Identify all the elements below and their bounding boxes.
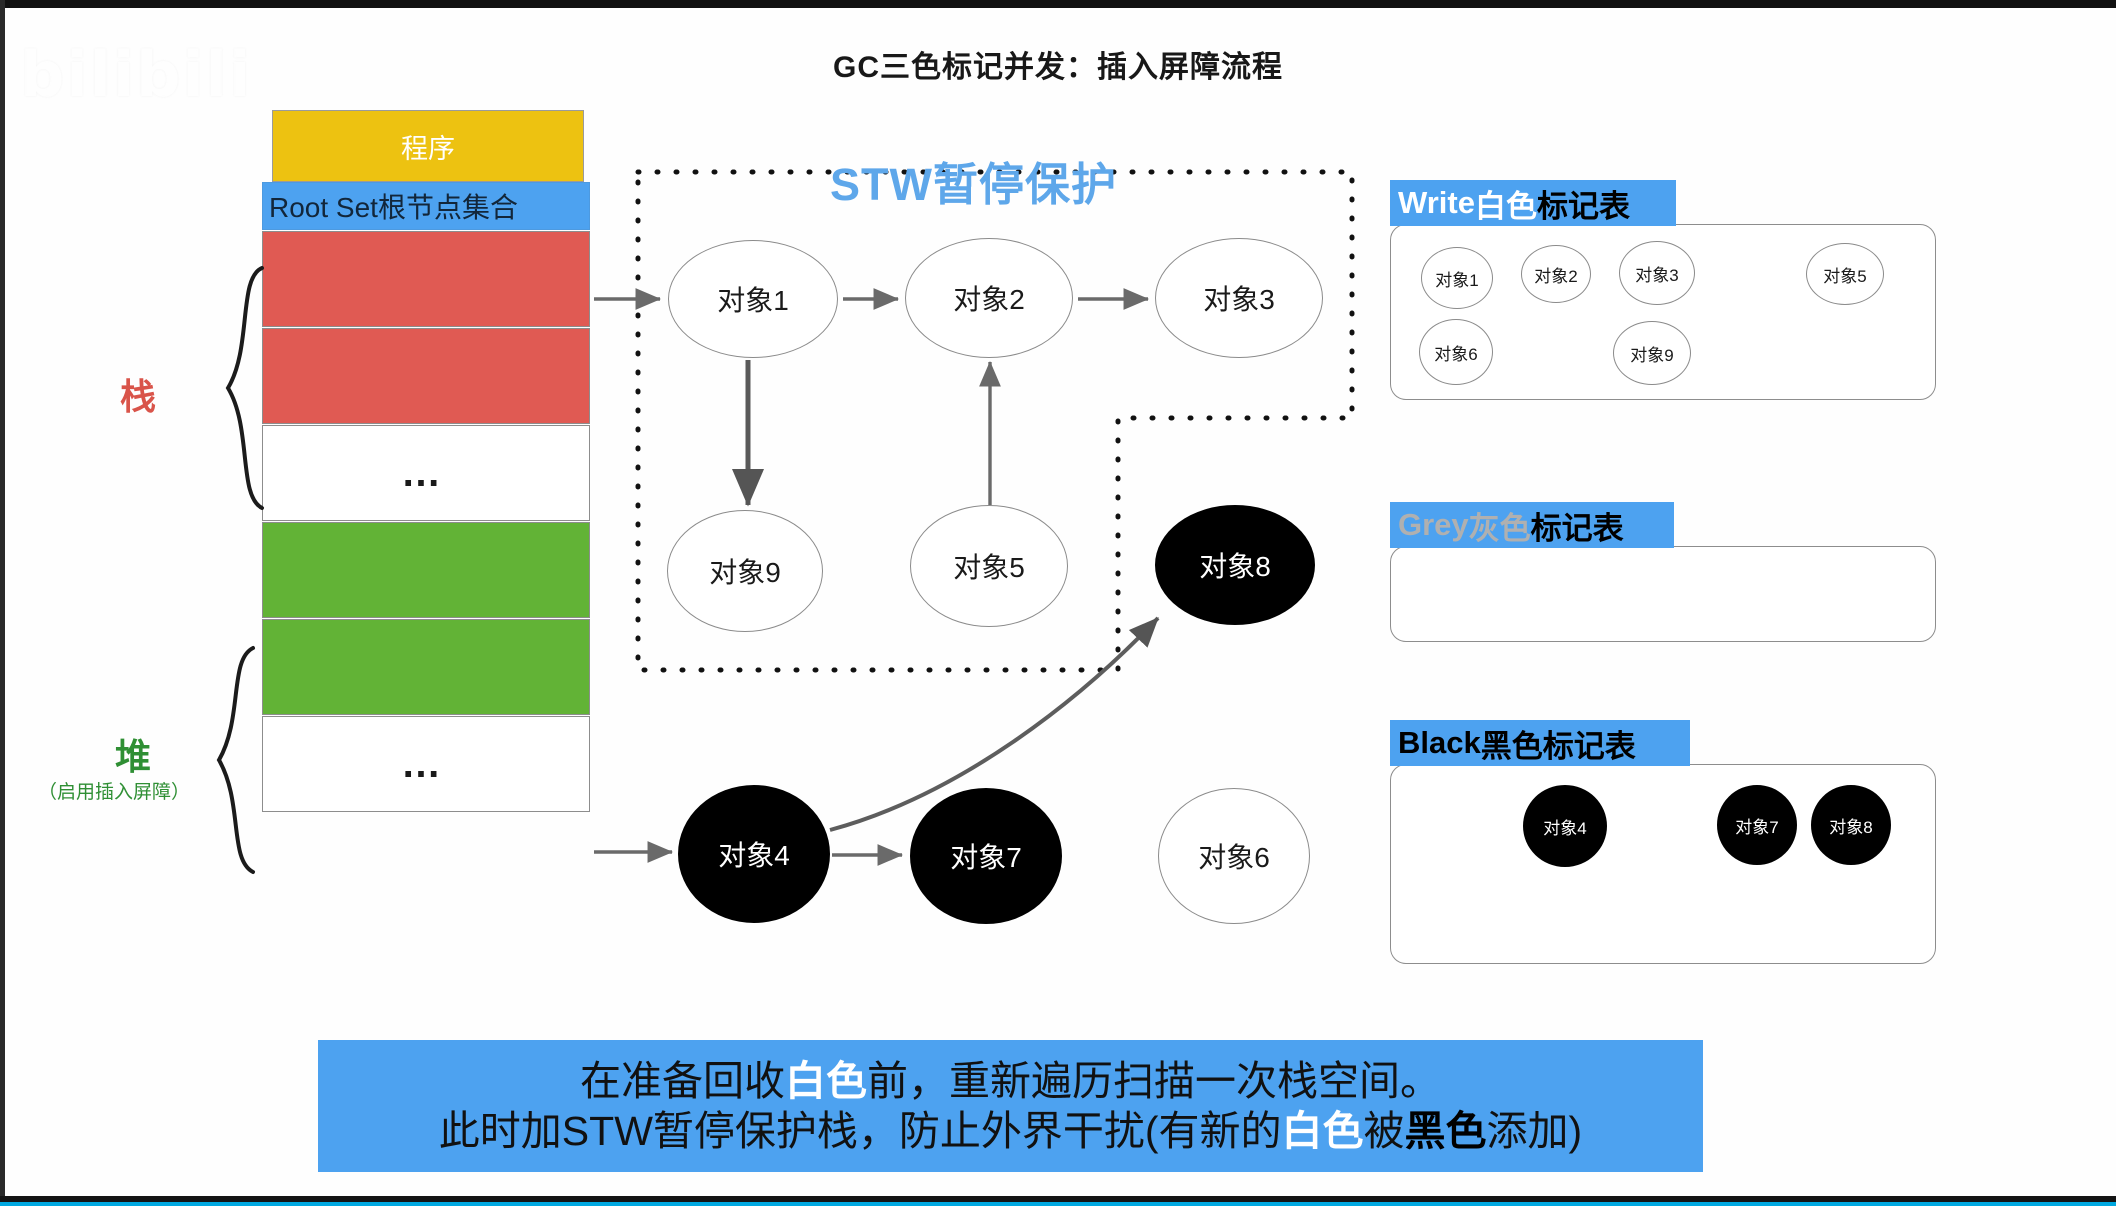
heap-ellipsis: … — [263, 717, 589, 811]
graph-node-label: 对象7 — [950, 836, 1022, 876]
graph-node-obj1[interactable]: 对象1 — [668, 240, 838, 358]
stack-empty-block: … — [262, 425, 590, 521]
summary-text: 前，重新遍历扫描一次栈空间。 — [867, 1058, 1441, 1104]
stack-label: 栈 — [120, 368, 156, 420]
header-part-cn-color: 白色 — [1475, 181, 1537, 226]
graph-node-label: 对象8 — [1199, 545, 1271, 585]
slide-canvas: bilibili GC三色标记并发：插入屏障流程 程序 Root Set根节点集… — [0, 0, 2116, 1206]
mark-chip[interactable]: 对象3 — [1619, 241, 1695, 305]
heap-block-1 — [262, 522, 590, 618]
video-progress-bar[interactable] — [0, 1202, 2116, 1206]
program-block: 程序 — [272, 110, 584, 182]
graph-node-obj3[interactable]: 对象3 — [1155, 238, 1323, 358]
graph-node-label: 对象2 — [953, 278, 1025, 318]
graph-node-obj9[interactable]: 对象9 — [667, 510, 823, 632]
header-part-en: Grey — [1398, 507, 1469, 543]
summary-banner: 在准备回收白色前，重新遍历扫描一次栈空间。 此时加STW暂停保护栈，防止外界干扰… — [318, 1040, 1703, 1172]
stack-ellipsis: … — [263, 426, 589, 520]
mark-chip[interactable]: 对象4 — [1523, 785, 1607, 867]
header-part-cn-table: 标记表 — [1537, 181, 1630, 226]
graph-node-label: 对象3 — [1203, 278, 1275, 318]
video-top-letterbox — [0, 0, 2116, 8]
header-part-en: Write — [1398, 185, 1475, 221]
graph-node-obj2[interactable]: 对象2 — [905, 238, 1073, 358]
black-mark-table-header: Black 黑色 标记表 — [1390, 720, 1690, 766]
graph-node-obj7[interactable]: 对象7 — [910, 788, 1062, 924]
summary-text: 此时加STW暂停保护栈，防止外界干扰(有新的 — [439, 1108, 1282, 1154]
graph-node-obj6[interactable]: 对象6 — [1158, 788, 1310, 924]
header-part-cn-color: 灰色 — [1469, 503, 1531, 548]
summary-text: 在准备回收 — [580, 1058, 785, 1104]
graph-node-label: 对象6 — [1198, 836, 1270, 876]
grey-mark-table-header: Grey 灰色 标记表 — [1390, 502, 1674, 548]
page-title: GC三色标记并发：插入屏障流程 — [0, 42, 2116, 86]
graph-node-label: 对象9 — [709, 551, 781, 591]
heap-label: 堆 — [115, 728, 151, 780]
summary-line-1: 在准备回收白色前，重新遍历扫描一次栈空间。 — [580, 1056, 1441, 1106]
header-part-en: Black — [1398, 725, 1481, 761]
black-mark-table-body: 对象4 对象7 对象8 — [1390, 764, 1936, 964]
summary-highlight-white: 白色 — [785, 1058, 867, 1104]
graph-node-obj4[interactable]: 对象4 — [678, 785, 830, 923]
summary-highlight-black: 黑色 — [1405, 1108, 1487, 1154]
stw-region-label: STW暂停保护 — [830, 148, 1117, 213]
graph-node-label: 对象5 — [953, 546, 1025, 586]
header-part-cn-color: 黑色 — [1481, 721, 1543, 766]
heap-block-2 — [262, 619, 590, 715]
graph-node-label: 对象4 — [718, 834, 790, 874]
white-mark-table-body: 对象1 对象2 对象3 对象5 对象6 对象9 — [1390, 224, 1936, 400]
summary-line-2: 此时加STW暂停保护栈，防止外界干扰(有新的白色被黑色添加) — [439, 1106, 1582, 1156]
mark-chip[interactable]: 对象5 — [1806, 243, 1884, 305]
mark-chip[interactable]: 对象6 — [1419, 319, 1493, 385]
graph-node-obj8[interactable]: 对象8 — [1155, 505, 1315, 625]
mark-chip[interactable]: 对象2 — [1521, 245, 1591, 303]
heap-sublabel: （启用插入屏障） — [38, 777, 190, 804]
summary-text: 添加) — [1487, 1108, 1583, 1154]
white-mark-table-header: Write 白色 标记表 — [1390, 180, 1676, 226]
graph-node-obj5[interactable]: 对象5 — [910, 505, 1068, 627]
header-part-cn-table: 标记表 — [1543, 721, 1636, 766]
rootset-block: Root Set根节点集合 — [262, 182, 590, 230]
grey-mark-table-body — [1390, 546, 1936, 642]
mark-chip[interactable]: 对象7 — [1717, 785, 1797, 865]
heap-brace — [219, 648, 253, 872]
heap-empty-block: … — [262, 716, 590, 812]
stack-block-1 — [262, 231, 590, 327]
mark-chip[interactable]: 对象1 — [1421, 247, 1493, 309]
stack-brace — [228, 268, 262, 508]
summary-text: 被 — [1364, 1108, 1405, 1154]
mark-chip[interactable]: 对象9 — [1613, 321, 1691, 385]
graph-node-label: 对象1 — [717, 279, 789, 319]
summary-highlight-white: 白色 — [1282, 1108, 1364, 1154]
stack-block-2 — [262, 328, 590, 424]
header-part-cn-table: 标记表 — [1531, 503, 1624, 548]
mark-chip[interactable]: 对象8 — [1811, 785, 1891, 865]
video-left-letterbox — [0, 0, 5, 1206]
